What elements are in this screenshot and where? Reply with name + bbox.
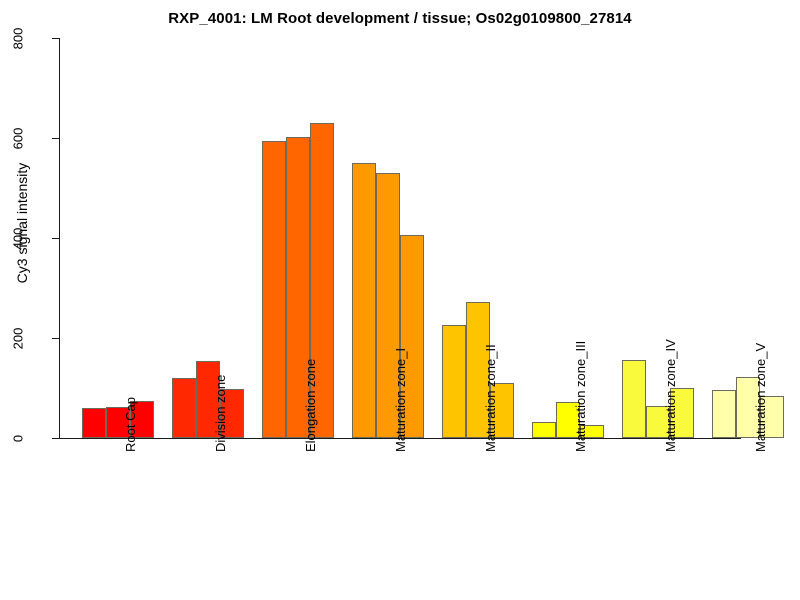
x-axis-category-label: Division zone [214, 375, 227, 452]
x-axis-category-label: Maturation zone_III [574, 341, 587, 452]
bar [352, 163, 376, 439]
page-title: RXP_4001: LM Root development / tissue; … [0, 10, 800, 27]
bar [712, 390, 736, 438]
bar-chart-figure: RXP_4001: LM Root development / tissue; … [0, 0, 800, 600]
x-axis-category-label: Maturation zone_II [484, 344, 497, 452]
bar [82, 408, 106, 438]
x-axis-category-label: Elongation zone [304, 359, 317, 452]
y-axis-tick [52, 438, 59, 439]
x-axis-category-label: Maturation zone_I [394, 348, 407, 452]
y-axis-tick [52, 138, 59, 139]
bar [172, 378, 196, 438]
y-axis-tick-label: 800 [12, 9, 25, 69]
y-axis-tick [52, 338, 59, 339]
x-axis-category-label: Maturation zone_V [754, 343, 767, 452]
y-axis-tick [52, 238, 59, 239]
bar [442, 325, 466, 438]
bar [262, 141, 286, 439]
x-axis-category-label: Root Cap [124, 397, 137, 452]
x-axis-category-label: Maturation zone_IV [664, 339, 677, 452]
bar [532, 422, 556, 438]
bar [622, 360, 646, 439]
y-axis-tick-label: 0 [12, 409, 25, 469]
y-axis-title: Cy3 signal intensity [14, 93, 30, 353]
y-axis-tick [52, 38, 59, 39]
